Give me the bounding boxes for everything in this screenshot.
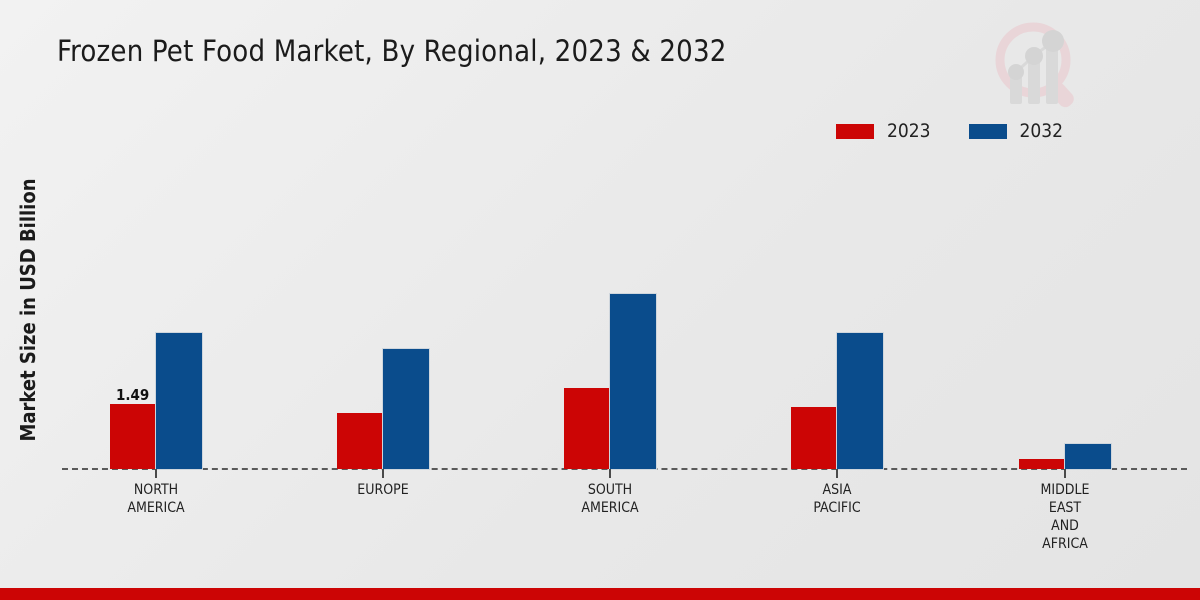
x-axis-label-line: MIDDLE — [980, 481, 1150, 499]
x-axis-label-europe: EUROPE — [298, 481, 468, 499]
x-axis-label-line: AMERICA — [525, 499, 695, 517]
bar-value-label-north-america-2023: 1.49 — [116, 386, 149, 404]
x-axis-label-north-america: NORTH AMERICA — [71, 481, 241, 517]
chart-canvas: Frozen Pet Food Market, By Regional, 202… — [0, 0, 1200, 600]
x-axis-tick-south-america — [609, 469, 611, 478]
x-axis-label-line: AFRICA — [980, 535, 1150, 553]
x-axis-label-middle-east-and-africa: MIDDLE EAST AND AFRICA — [980, 481, 1150, 553]
bar-asia-pacific-2023[interactable] — [791, 407, 837, 469]
x-axis-label-line: AMERICA — [71, 499, 241, 517]
x-axis-label-line: EUROPE — [298, 481, 468, 499]
x-axis-label-south-america: SOUTH AMERICA — [525, 481, 695, 517]
x-axis-label-asia-pacific: ASIA PACIFIC — [752, 481, 922, 517]
x-axis-label-line: EAST — [980, 499, 1150, 517]
x-axis-label-line: NORTH — [71, 481, 241, 499]
x-axis-label-line: PACIFIC — [752, 499, 922, 517]
x-axis-tick-middle-east-and-africa — [1064, 469, 1066, 478]
bar-middle-east-and-africa-2032[interactable] — [1064, 443, 1112, 470]
bottom-accent-strip — [0, 588, 1200, 600]
x-axis-label-line: ASIA — [752, 481, 922, 499]
bar-middle-east-and-africa-2023[interactable] — [1019, 459, 1065, 469]
bar-south-america-2032[interactable] — [609, 293, 657, 470]
x-axis-label-line: AND — [980, 517, 1150, 535]
x-axis-tick-europe — [382, 469, 384, 478]
bar-europe-2032[interactable] — [382, 348, 430, 470]
x-axis-label-line: SOUTH — [525, 481, 695, 499]
bar-north-america-2023[interactable] — [110, 404, 156, 469]
bar-north-america-2032[interactable] — [155, 332, 203, 470]
x-axis-tick-asia-pacific — [836, 469, 838, 478]
x-axis-tick-north-america — [155, 469, 157, 478]
bar-europe-2023[interactable] — [337, 413, 383, 469]
plot-area: 1.49 NORTH AMERICA EUROPE SOUTH AMERICA … — [0, 0, 1200, 600]
bar-south-america-2023[interactable] — [564, 388, 610, 469]
bar-asia-pacific-2032[interactable] — [836, 332, 884, 470]
